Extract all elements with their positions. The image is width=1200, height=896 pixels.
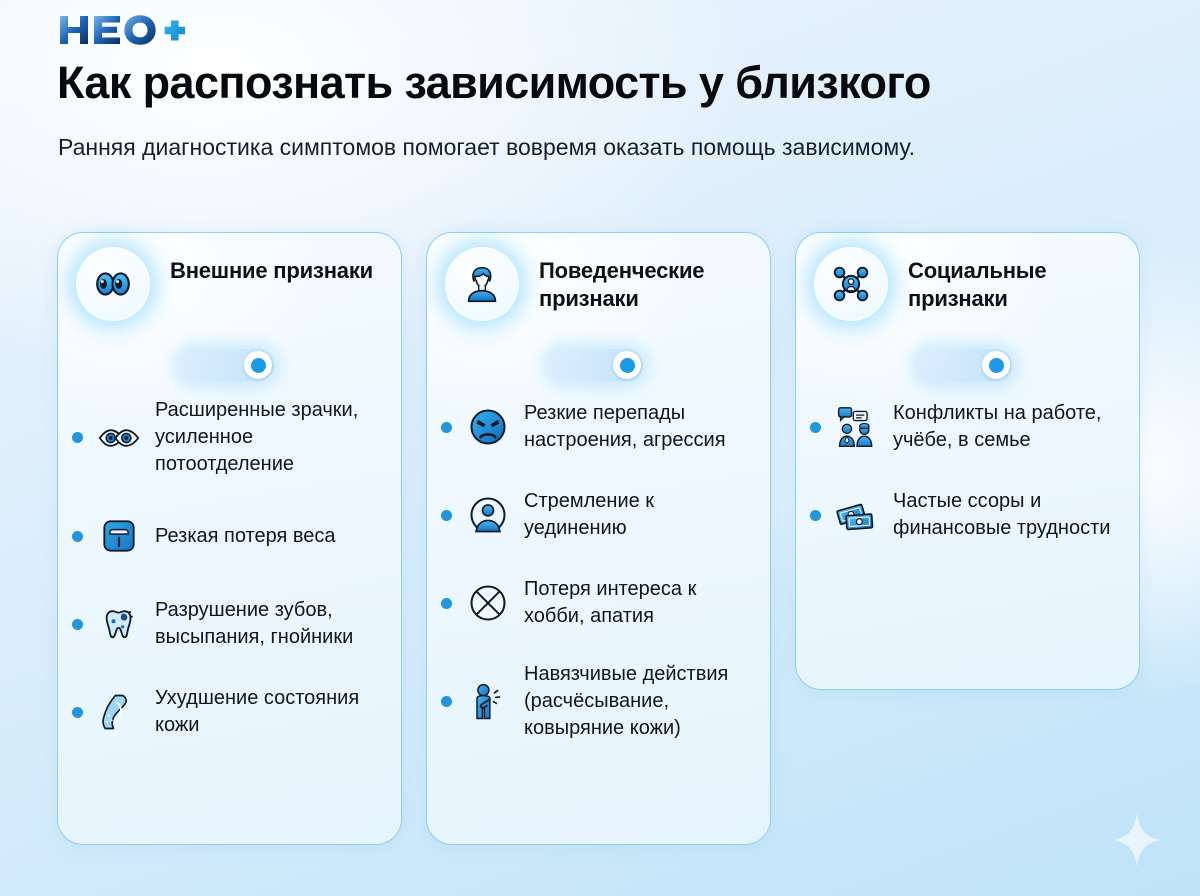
list-item: Частые ссоры и финансовые трудности xyxy=(810,485,1123,545)
bullet-dot xyxy=(441,696,452,707)
brand-logo xyxy=(58,13,208,47)
card-title: Социальные признаки xyxy=(908,257,1126,313)
list-item-text: Разрушение зубов, высыпания, гнойники xyxy=(155,597,385,651)
bullet-dot xyxy=(72,619,83,630)
card-social-signs: Социальные признаки xyxy=(795,232,1140,690)
toggle-switch-social[interactable] xyxy=(917,349,1012,381)
list-item: Расширенные зрачки, усиленное потоотделе… xyxy=(72,397,385,478)
toggle-wrap xyxy=(796,343,1139,397)
person-icon xyxy=(445,247,519,321)
list-item: Конфликты на работе, учёбе, в семье xyxy=(810,397,1123,457)
bullet-dot xyxy=(441,422,452,433)
list-item-text: Навязчивые действия (расчёсывание, ковыр… xyxy=(524,661,754,742)
bullet-dot xyxy=(72,707,83,718)
face-skin-icon xyxy=(96,689,142,735)
signs-list: Резкие перепады настроения, агрессия xyxy=(427,397,770,742)
weight-scale-icon xyxy=(96,513,142,559)
card-behavioral-signs: Поведенческие признаки xyxy=(426,232,771,845)
list-item: Резкая потеря веса xyxy=(72,506,385,566)
card-title: Внешние признаки xyxy=(170,257,388,285)
page-title: Как распознать зависимость у близкого xyxy=(57,56,1157,110)
network-person-icon xyxy=(814,247,888,321)
list-item: Стремление к уединению xyxy=(441,485,754,545)
money-banknotes-icon xyxy=(834,492,880,538)
list-item-text: Расширенные зрачки, усиленное потоотделе… xyxy=(155,397,385,478)
list-item-text: Ухудшение состояния кожи xyxy=(155,685,385,739)
toggle-switch-behavioral[interactable] xyxy=(548,349,643,381)
tooth-decay-icon xyxy=(96,601,142,647)
bullet-dot xyxy=(72,432,83,443)
list-item-text: Частые ссоры и финансовые трудности xyxy=(893,488,1123,542)
list-item: Потеря интереса к хобби, апатия xyxy=(441,573,754,633)
card-header: Внешние признаки xyxy=(58,233,401,343)
signs-list: Конфликты на работе, учёбе, в семье xyxy=(796,397,1139,545)
card-header: Социальные признаки xyxy=(796,233,1139,343)
card-external-signs: Внешние признаки xyxy=(57,232,402,845)
people-conflict-icon xyxy=(834,404,880,450)
list-item: Разрушение зубов, высыпания, гнойники xyxy=(72,594,385,654)
bullet-dot xyxy=(810,422,821,433)
person-circle-icon xyxy=(465,492,511,538)
eyes-icon xyxy=(76,247,150,321)
toggle-switch-external[interactable] xyxy=(179,349,274,381)
toggle-knob xyxy=(244,351,272,379)
angry-face-icon xyxy=(465,404,511,450)
list-item-text: Резкая потеря веса xyxy=(155,523,336,550)
no-interest-icon xyxy=(465,580,511,626)
infographic-page: Как распознать зависимость у близкого Ра… xyxy=(0,0,1200,896)
bullet-dot xyxy=(441,598,452,609)
list-item: Ухудшение состояния кожи xyxy=(72,682,385,742)
list-item-text: Резкие перепады настроения, агрессия xyxy=(524,400,754,454)
dilated-pupils-icon xyxy=(96,415,142,461)
card-title: Поведенческие признаки xyxy=(539,257,757,313)
bullet-dot xyxy=(441,510,452,521)
toggle-wrap xyxy=(58,343,401,397)
scratching-person-icon xyxy=(465,679,511,725)
bullet-dot xyxy=(72,531,83,542)
list-item-text: Потеря интереса к хобби, апатия xyxy=(524,576,754,630)
toggle-knob xyxy=(982,351,1010,379)
sparkle-decoration xyxy=(1112,812,1162,868)
toggle-knob xyxy=(613,351,641,379)
toggle-wrap xyxy=(427,343,770,397)
signs-list: Расширенные зрачки, усиленное потоотделе… xyxy=(58,397,401,742)
list-item-text: Стремление к уединению xyxy=(524,488,754,542)
list-item: Навязчивые действия (расчёсывание, ковыр… xyxy=(441,661,754,742)
bullet-dot xyxy=(810,510,821,521)
list-item-text: Конфликты на работе, учёбе, в семье xyxy=(893,400,1123,454)
page-subtitle: Ранняя диагностика симптомов помогает во… xyxy=(58,129,958,165)
card-header: Поведенческие признаки xyxy=(427,233,770,343)
list-item: Резкие перепады настроения, агрессия xyxy=(441,397,754,457)
